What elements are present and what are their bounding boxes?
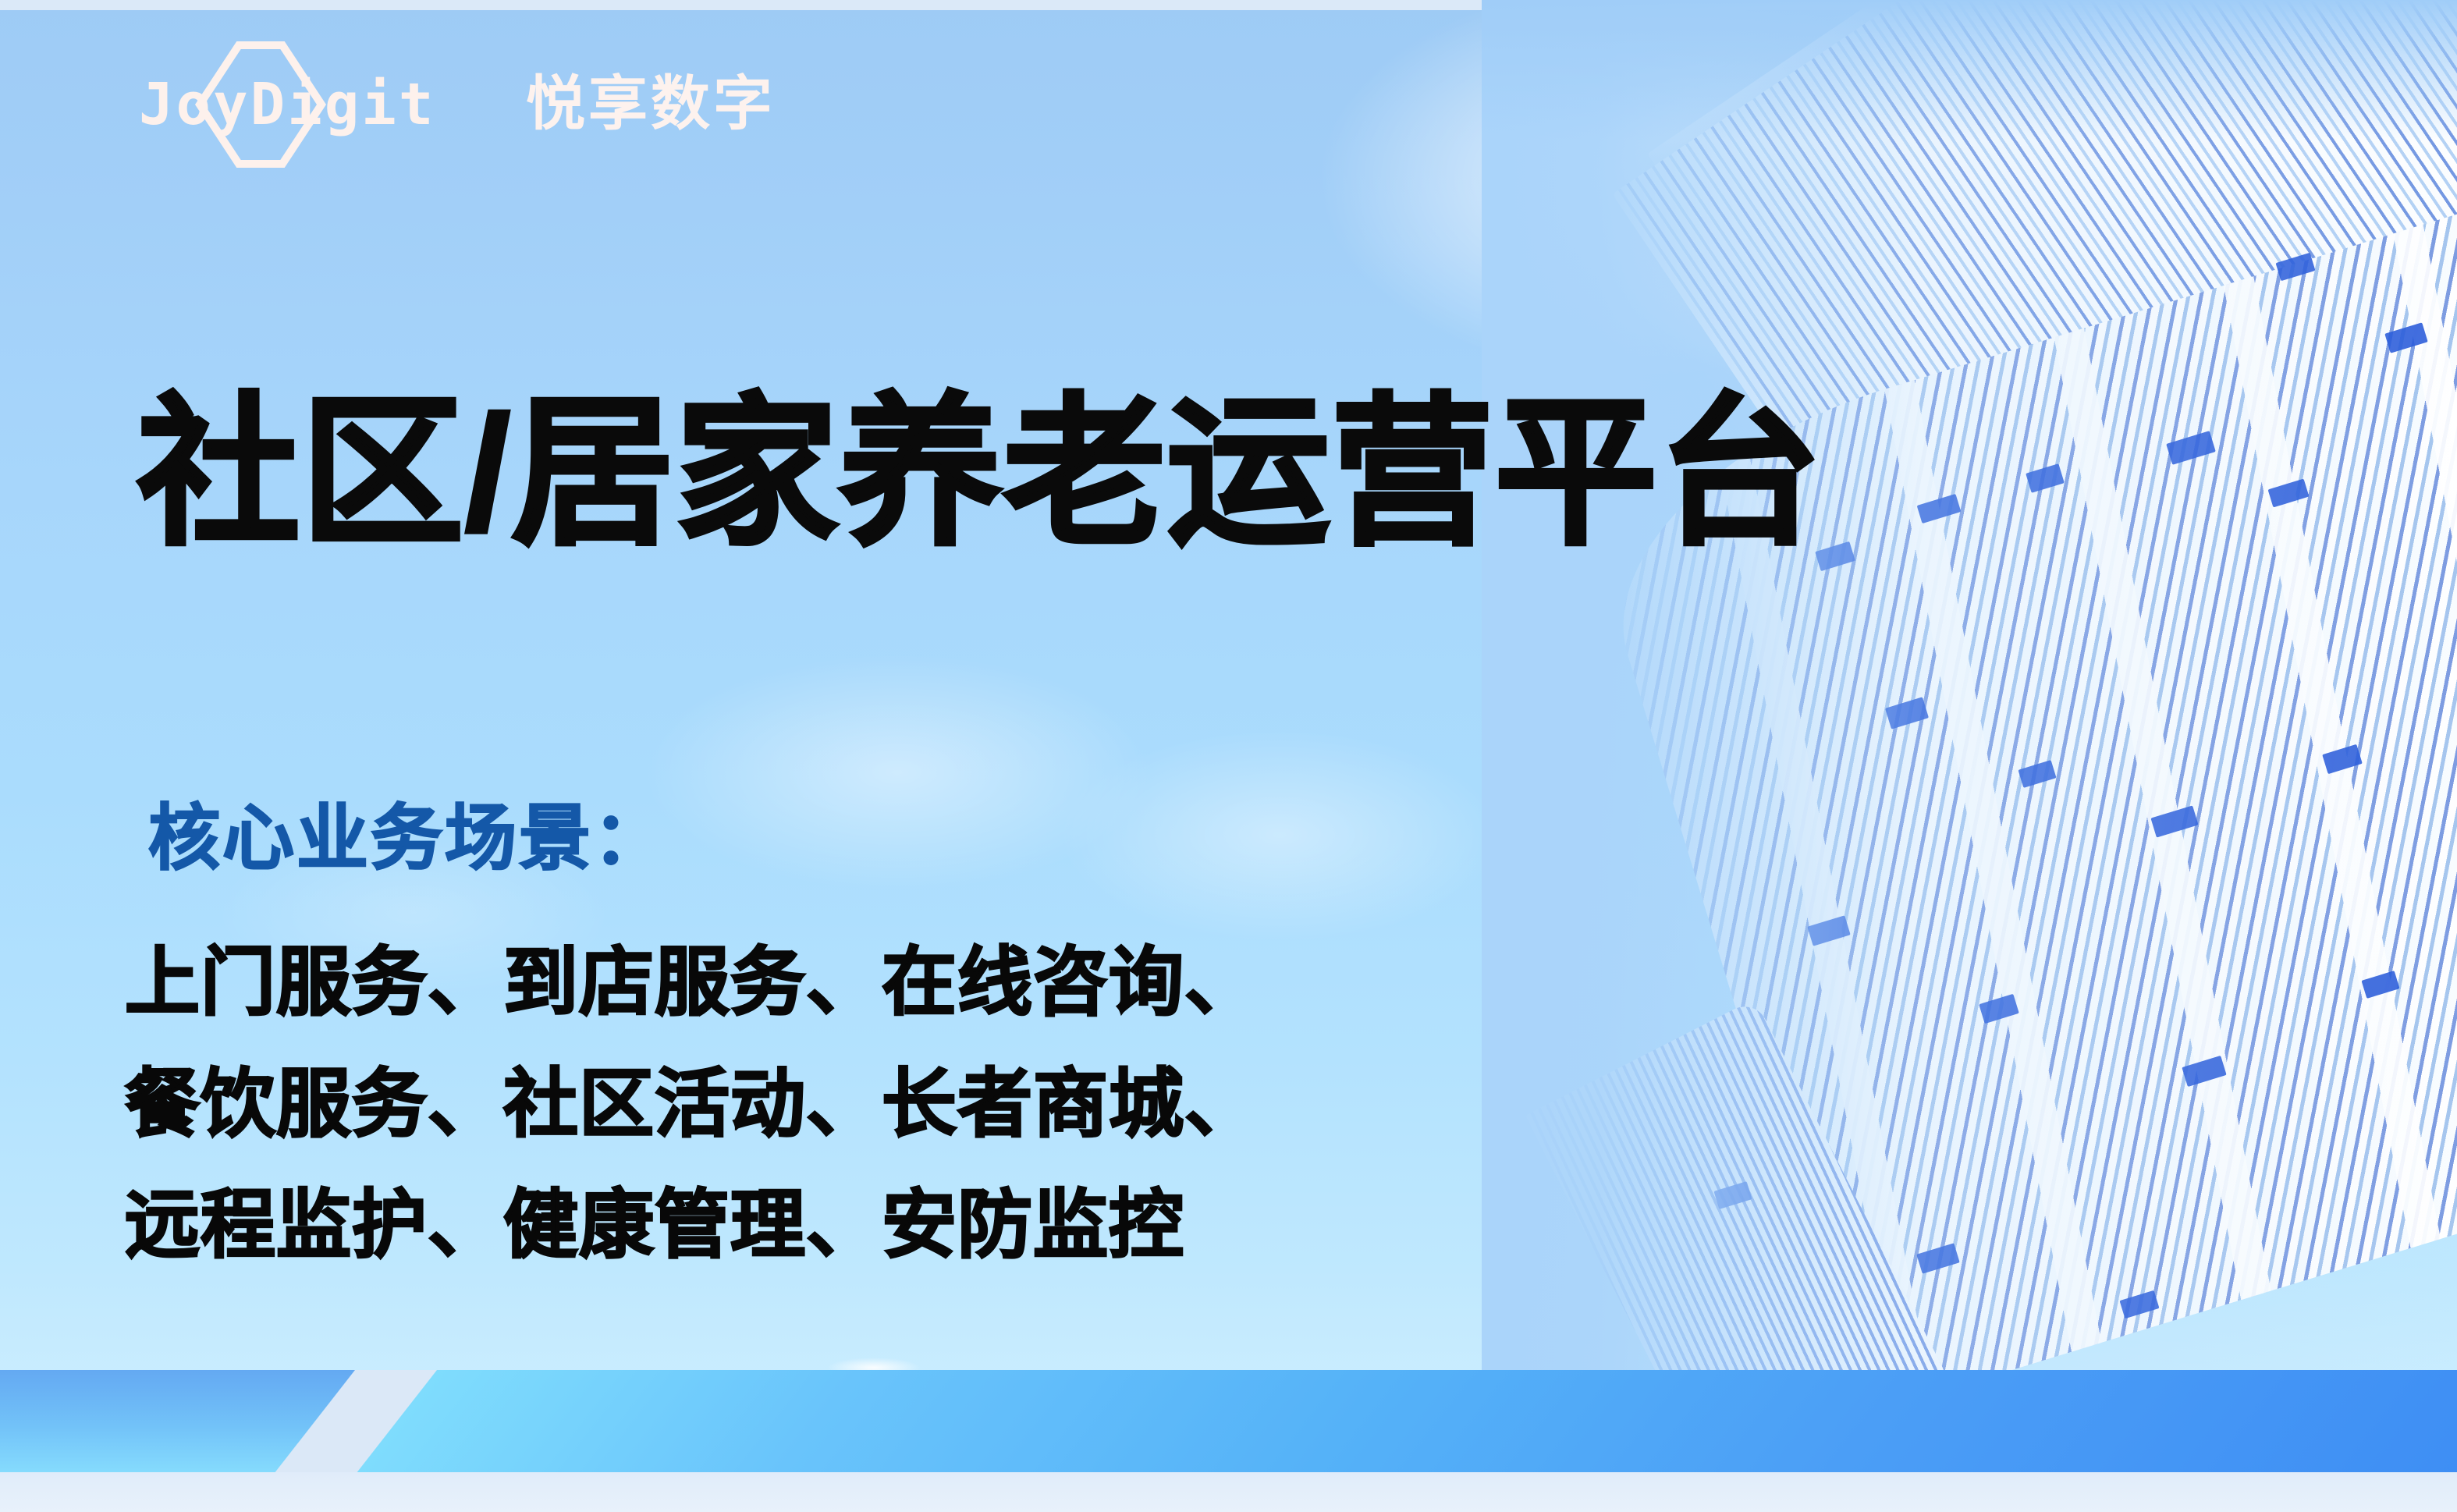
scenarios-line: 远程监护、健康管理、安防监控	[125, 1165, 1260, 1287]
logo-mark: JoyDigit	[139, 67, 506, 142]
band-segment-right	[357, 1370, 2457, 1472]
top-edge-strip	[0, 0, 2457, 10]
logo-wordmark: JoyDigit	[139, 76, 435, 133]
section-subhead: 核心业务场景：	[148, 780, 667, 884]
scenarios-line: 餐饮服务、社区活动、长者商城、	[125, 1044, 1260, 1166]
brand-logo[interactable]: JoyDigit 悦享数字	[139, 69, 776, 140]
logo-chinese-name: 悦享数字	[526, 75, 776, 134]
slide-canvas: JoyDigit 悦享数字 社区/居家养老运营平台 核心业务场景： 上门服务、到…	[0, 0, 2457, 1512]
bottom-decor-band	[0, 1370, 2457, 1472]
scenarios-text-block: 上门服务、到店服务、在线咨询、 餐饮服务、社区活动、长者商城、 远程监护、健康管…	[125, 922, 1260, 1287]
footer-strip	[0, 1472, 2457, 1512]
scenarios-line: 上门服务、到店服务、在线咨询、	[125, 922, 1260, 1044]
page-title: 社区/居家养老运营平台	[137, 383, 1823, 565]
